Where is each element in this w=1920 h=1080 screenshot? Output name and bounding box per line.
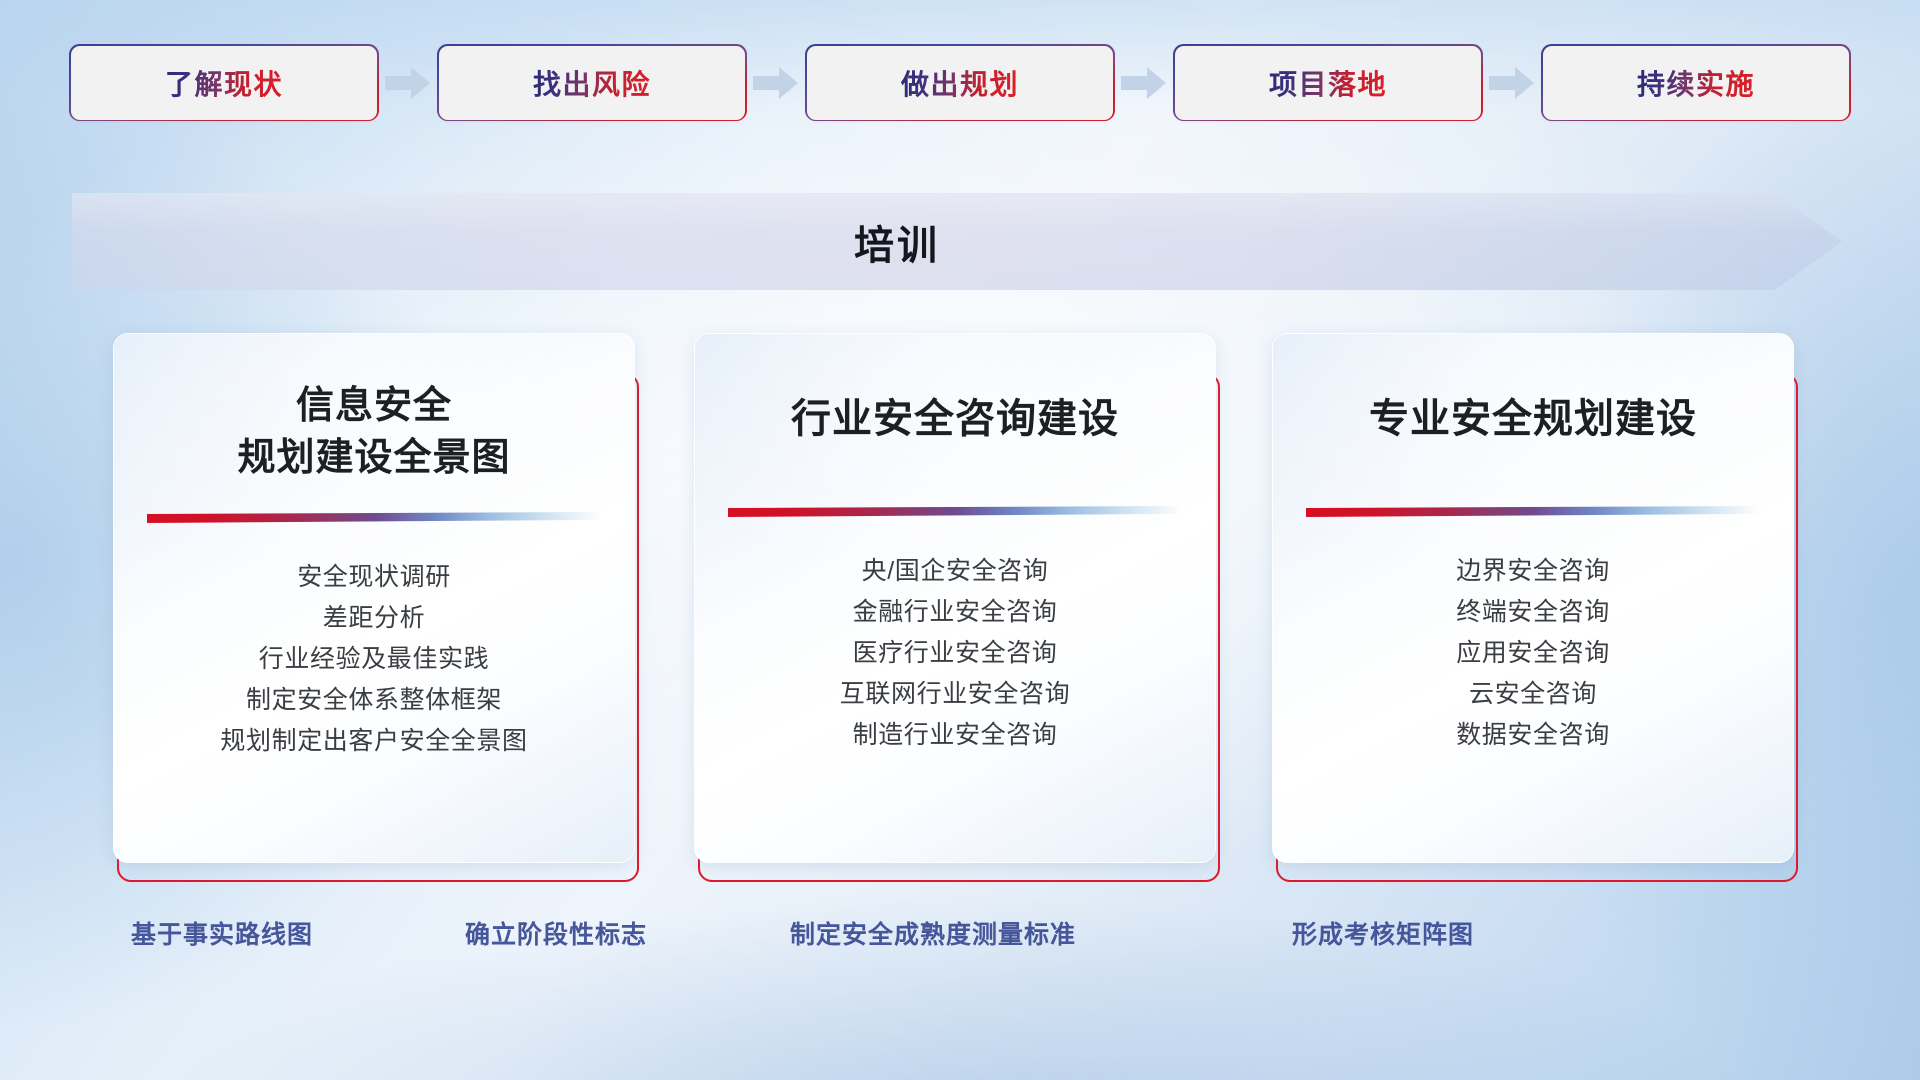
list-item: 金融行业安全咨询	[715, 592, 1195, 633]
step-label-5: 持续实施	[1637, 63, 1755, 103]
list-item: 制造行业安全咨询	[715, 715, 1195, 756]
card-title-3-line-1: 专业安全规划建设	[1291, 392, 1775, 446]
step-box-4[interactable]: 项目落地	[1175, 46, 1481, 120]
card-title-1-line-1: 信息安全	[132, 380, 616, 432]
step-arrow-icon-2	[745, 66, 807, 100]
training-banner: 培训	[72, 193, 1842, 290]
step-arrow-icon-1	[377, 66, 439, 100]
card-title-1-line-2: 规划建设全景图	[132, 432, 616, 484]
step-label-3: 做出规划	[901, 63, 1019, 103]
card-professional-security-planning[interactable]: 专业安全规划建设 边界安全咨询 终端安全咨询 应用安全咨询 云安全咨询 数据安全…	[1272, 333, 1798, 878]
step-box-2[interactable]: 找出风险	[439, 46, 745, 120]
card-divider-wrap-3	[1273, 506, 1793, 517]
footer-label-4: 形成考核矩阵图	[1292, 915, 1474, 951]
footer-label-1: 基于事实路线图	[131, 915, 313, 951]
list-item: 制定安全体系整体框架	[134, 680, 614, 721]
step-label-4: 项目落地	[1269, 63, 1387, 103]
step-box-5[interactable]: 持续实施	[1543, 46, 1849, 120]
list-item: 规划制定出客户安全全景图	[134, 721, 614, 762]
card-divider-wrap-2	[695, 506, 1215, 517]
card-information-security-panorama[interactable]: 信息安全 规划建设全景图 安全现状调研 差距分析 行业经验及最佳实践 制定安全体…	[113, 333, 639, 878]
step-wrap-4: 持续实施	[1543, 46, 1849, 120]
footer-labels: 基于事实路线图 确立阶段性标志 制定安全成熟度测量标准 形成考核矩阵图	[0, 915, 1920, 975]
training-banner-label: 培训	[72, 193, 1842, 290]
card-title-1: 信息安全 规划建设全景图	[114, 334, 634, 484]
list-item: 终端安全咨询	[1293, 592, 1773, 633]
list-item: 央/国企安全咨询	[715, 551, 1195, 592]
footer-label-3: 制定安全成熟度测量标准	[790, 915, 1076, 951]
list-item: 安全现状调研	[134, 557, 614, 598]
process-step-flow: 了解现状 找出风险 做出规划 项目落地	[0, 0, 1920, 165]
card-divider-3	[1306, 506, 1760, 517]
step-wrap-3: 项目落地	[1175, 46, 1481, 120]
list-item: 互联网行业安全咨询	[715, 674, 1195, 715]
card-title-2-line-1: 行业安全咨询建设	[713, 392, 1197, 446]
card-title-2: 行业安全咨询建设	[695, 334, 1215, 446]
card-divider-1	[147, 512, 601, 523]
cards-row: 信息安全 规划建设全景图 安全现状调研 差距分析 行业经验及最佳实践 制定安全体…	[0, 333, 1920, 893]
step-label-1: 了解现状	[165, 63, 283, 103]
card-panel-3: 专业安全规划建设 边界安全咨询 终端安全咨询 应用安全咨询 云安全咨询 数据安全…	[1272, 333, 1794, 863]
list-item: 数据安全咨询	[1293, 715, 1773, 756]
card-divider-2	[728, 506, 1182, 517]
card-panel-2: 行业安全咨询建设 央/国企安全咨询 金融行业安全咨询 医疗行业安全咨询 互联网行…	[694, 333, 1216, 863]
card-industry-security-consulting[interactable]: 行业安全咨询建设 央/国企安全咨询 金融行业安全咨询 医疗行业安全咨询 互联网行…	[694, 333, 1220, 878]
card-title-3: 专业安全规划建设	[1273, 334, 1793, 446]
list-item: 应用安全咨询	[1293, 633, 1773, 674]
list-item: 云安全咨询	[1293, 674, 1773, 715]
step-arrow-icon-4	[1481, 66, 1543, 100]
step-label-2: 找出风险	[533, 63, 651, 103]
list-item: 边界安全咨询	[1293, 551, 1773, 592]
step-arrow-icon-3	[1113, 66, 1175, 100]
step-wrap-1: 找出风险	[439, 46, 745, 120]
card-divider-wrap-1	[114, 512, 634, 523]
list-item: 行业经验及最佳实践	[134, 639, 614, 680]
card-list-3: 边界安全咨询 终端安全咨询 应用安全咨询 云安全咨询 数据安全咨询	[1273, 517, 1793, 756]
card-list-1: 安全现状调研 差距分析 行业经验及最佳实践 制定安全体系整体框架 规划制定出客户…	[114, 523, 634, 762]
list-item: 医疗行业安全咨询	[715, 633, 1195, 674]
card-list-2: 央/国企安全咨询 金融行业安全咨询 医疗行业安全咨询 互联网行业安全咨询 制造行…	[695, 517, 1215, 756]
step-box-1[interactable]: 了解现状	[71, 46, 377, 120]
card-panel-1: 信息安全 规划建设全景图 安全现状调研 差距分析 行业经验及最佳实践 制定安全体…	[113, 333, 635, 863]
step-wrap-0: 了解现状	[71, 46, 377, 120]
footer-label-2: 确立阶段性标志	[465, 915, 647, 951]
list-item: 差距分析	[134, 598, 614, 639]
step-wrap-2: 做出规划	[807, 46, 1113, 120]
step-box-3[interactable]: 做出规划	[807, 46, 1113, 120]
